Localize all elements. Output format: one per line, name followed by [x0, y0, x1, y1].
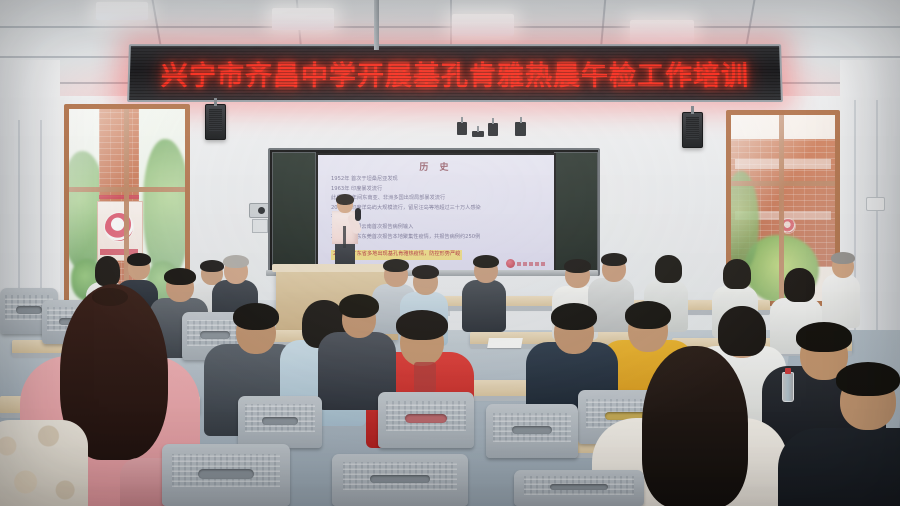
water-bottle[interactable]	[782, 372, 794, 402]
ceiling-spotlight-icon	[515, 122, 526, 136]
slide-line: 在人群中	[331, 213, 543, 223]
slide-body: 1952年 首次于坦桑尼亚发现 1963年 印度暴发流行 此后数十年间东南亚、非…	[331, 175, 543, 260]
banner-support-post	[374, 0, 379, 50]
presenter-hair	[336, 194, 354, 205]
slide-line: 此后数十年间东南亚、非洲多国出现局部暴发流行	[331, 194, 543, 204]
ceiling-light-panel	[96, 2, 148, 20]
attendee-hair	[642, 346, 748, 506]
chair-front[interactable]	[162, 444, 290, 506]
right-wall-speaker	[682, 112, 703, 148]
ceiling-light-panel	[452, 14, 514, 36]
microphone-icon	[355, 208, 361, 221]
slide-title: 历 史	[318, 160, 554, 173]
slide-line: 1963年 印度暴发流行	[331, 185, 543, 195]
ceiling-mount-bracket	[472, 131, 484, 137]
slide-line: 2005年 印度洋岛屿大规模流行，留尼汪岛等地超过三十万人感染	[331, 204, 543, 214]
slide-line: 1987年 我国云南首次报告病例输入	[331, 223, 543, 233]
chair[interactable]	[378, 392, 474, 448]
left-wall-speaker	[205, 104, 226, 140]
ceiling-spotlight-icon	[488, 123, 498, 136]
chair[interactable]	[486, 404, 578, 458]
ceiling-spotlight-icon	[457, 122, 467, 135]
ceiling-light-panel	[630, 20, 694, 42]
light-switch-panel[interactable]	[866, 197, 885, 211]
slide-line: 2010年 广东东莞首次报告本地聚集性疫情，共报告病例约250例	[331, 233, 543, 243]
slide-line: 1952年 首次于坦桑尼亚发现	[331, 175, 543, 185]
video-frame: 兴宁市齐昌中学开展基孔肯雅热晨午检工作培训	[0, 0, 900, 506]
led-banner-mesh	[129, 46, 781, 100]
front-board-assembly: 历 史 1952年 首次于坦桑尼亚发现 1963年 印度暴发流行 此后数十年间东…	[268, 148, 600, 276]
chalkboard-right	[554, 152, 598, 274]
wall-junction-box	[252, 219, 268, 233]
classroom-scene: 兴宁市齐昌中学开展基孔肯雅热晨午检工作培训	[0, 0, 900, 506]
handout-paper	[487, 338, 523, 348]
chair-front[interactable]	[514, 470, 644, 506]
presenter-lanyard	[343, 226, 346, 248]
chalkboard-left	[272, 152, 316, 274]
logo-wordmark	[517, 262, 547, 266]
chair[interactable]	[238, 396, 322, 448]
led-banner: 兴宁市齐昌中学开展基孔肯雅热晨午检工作培训	[127, 44, 783, 102]
logo-mark-icon	[506, 259, 515, 268]
ceiling-light-panel	[272, 8, 334, 30]
chair-front[interactable]	[332, 454, 468, 506]
slide-logo	[506, 259, 547, 268]
